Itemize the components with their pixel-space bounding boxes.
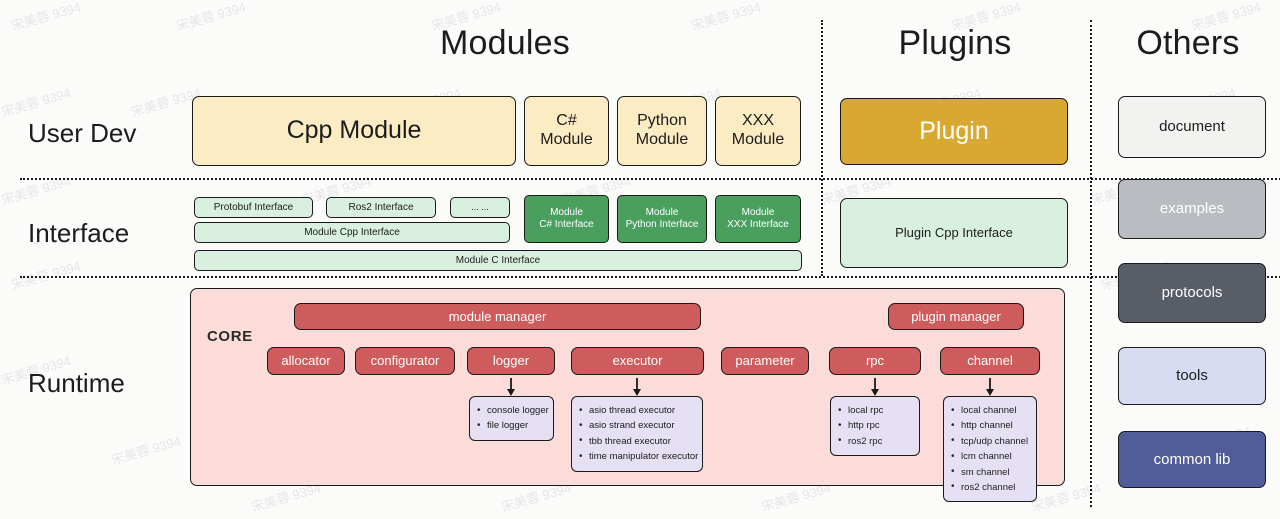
list-item: sm channel (950, 465, 1028, 480)
separator-plugins-others (1090, 20, 1092, 507)
core-sublist-logger: console logger file logger (469, 396, 554, 441)
column-title-others: Others (1098, 24, 1278, 63)
interface-box-protobuf[interactable]: Protobuf Interface (194, 197, 313, 218)
interface-box-module-cpp[interactable]: Module Cpp Interface (194, 222, 510, 243)
module-box-cpp[interactable]: Cpp Module (192, 96, 516, 166)
others-box-examples[interactable]: examples (1118, 179, 1266, 239)
column-title-plugins: Plugins (830, 24, 1080, 63)
arrow-down-icon (868, 377, 882, 397)
list-item: tbb thread executor (578, 434, 694, 449)
interface-box-module-xxx[interactable]: Module XXX Interface (715, 195, 801, 243)
core-module-manager[interactable]: module manager (294, 303, 701, 330)
core-component-rpc[interactable]: rpc (829, 347, 921, 375)
arrow-down-icon (630, 377, 644, 397)
interface-box-module-csharp[interactable]: Module C# Interface (524, 195, 609, 243)
separator-modules-plugins (821, 20, 823, 276)
interface-box-module-python[interactable]: Module Python Interface (617, 195, 707, 243)
column-title-modules: Modules (190, 24, 820, 63)
core-plugin-manager[interactable]: plugin manager (888, 303, 1024, 330)
row-label-user-dev: User Dev (28, 118, 136, 149)
arrow-down-icon (504, 377, 518, 397)
row-label-runtime: Runtime (28, 368, 125, 399)
others-box-protocols[interactable]: protocols (1118, 263, 1266, 323)
core-component-channel[interactable]: channel (940, 347, 1040, 375)
core-label: CORE (207, 328, 253, 345)
list-item: lcm channel (950, 449, 1028, 464)
core-component-configurator[interactable]: configurator (355, 347, 455, 375)
list-item: http rpc (837, 418, 911, 433)
core-component-logger[interactable]: logger (467, 347, 555, 375)
list-item: asio thread executor (578, 403, 694, 418)
core-component-parameter[interactable]: parameter (721, 347, 809, 375)
list-item: ros2 rpc (837, 434, 911, 449)
watermark: 宋美蓉 9394 (9, 0, 83, 34)
list-item: ros2 channel (950, 480, 1028, 495)
watermark: 宋美蓉 9394 (109, 431, 183, 469)
watermark: 宋美蓉 9394 (0, 83, 73, 121)
architecture-diagram: 宋美蓉 9394 宋美蓉 9394 宋美蓉 9394 宋美蓉 9394 宋美蓉 … (0, 0, 1280, 519)
plugin-box[interactable]: Plugin (840, 98, 1068, 165)
core-component-executor[interactable]: executor (571, 347, 704, 375)
list-item: asio strand executor (578, 418, 694, 433)
list-item: tcp/udp channel (950, 434, 1028, 449)
others-box-common-lib[interactable]: common lib (1118, 431, 1266, 488)
others-box-document[interactable]: document (1118, 96, 1266, 158)
core-sublist-rpc: local rpc http rpc ros2 rpc (830, 396, 920, 456)
interface-box-ros2[interactable]: Ros2 Interface (326, 197, 436, 218)
others-box-tools[interactable]: tools (1118, 347, 1266, 405)
list-item: local channel (950, 403, 1028, 418)
watermark: 宋美蓉 9394 (0, 171, 73, 209)
arrow-down-icon (983, 377, 997, 397)
list-item: local rpc (837, 403, 911, 418)
interface-box-ellipsis[interactable]: ... ... (450, 197, 510, 218)
list-item: http channel (950, 418, 1028, 433)
module-box-python[interactable]: Python Module (617, 96, 707, 166)
watermark: 宋美蓉 9394 (9, 256, 83, 294)
core-sublist-executor: asio thread executor asio strand executo… (571, 396, 703, 472)
module-box-xxx[interactable]: XXX Module (715, 96, 801, 166)
core-component-allocator[interactable]: allocator (267, 347, 345, 375)
list-item: console logger (476, 403, 545, 418)
module-box-csharp[interactable]: C# Module (524, 96, 609, 166)
core-sublist-channel: local channel http channel tcp/udp chann… (943, 396, 1037, 502)
list-item: time manipulator executor (578, 449, 694, 464)
list-item: file logger (476, 418, 545, 433)
interface-box-module-c[interactable]: Module C Interface (194, 250, 802, 271)
row-label-interface: Interface (28, 218, 129, 249)
interface-box-plugin-cpp[interactable]: Plugin Cpp Interface (840, 198, 1068, 268)
